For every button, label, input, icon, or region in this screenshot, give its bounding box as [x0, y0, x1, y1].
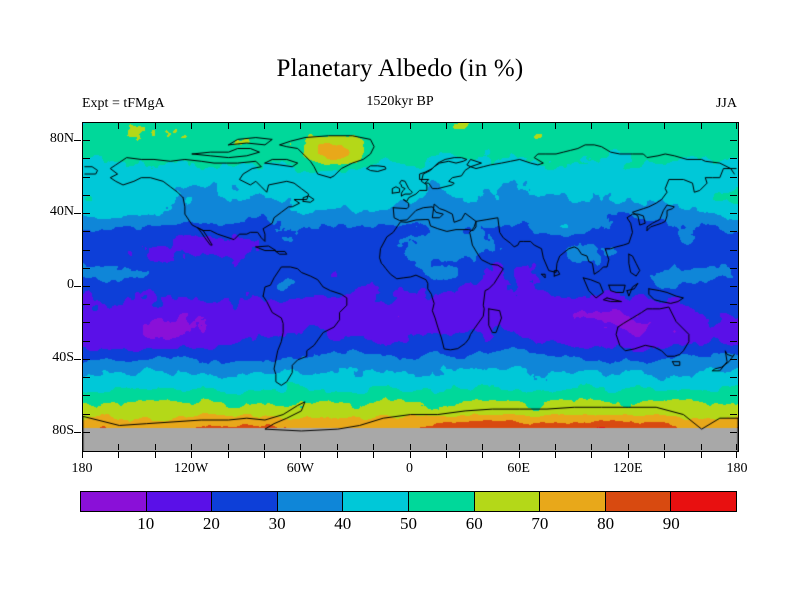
y-minor-tick: [83, 359, 90, 360]
x-minor-tick: [591, 444, 592, 450]
x-minor-tick: [519, 123, 520, 129]
x-outer-tick: [664, 452, 665, 458]
x-minor-tick: [228, 123, 229, 129]
x-minor-tick: [701, 444, 702, 450]
x-minor-tick: [519, 444, 520, 450]
colorbar: [80, 491, 737, 512]
y-minor-tick: [730, 341, 737, 342]
x-outer-tick: [701, 452, 702, 458]
x-minor-tick: [410, 444, 411, 450]
x-outer-tick: [373, 452, 374, 458]
y-minor-tick: [83, 377, 90, 378]
x-minor-tick: [664, 123, 665, 129]
x-minor-tick: [82, 123, 83, 129]
y-minor-tick: [83, 250, 90, 251]
x-outer-tick: [519, 452, 520, 458]
y-major-tick: [74, 286, 81, 287]
x-minor-tick: [264, 444, 265, 450]
y-minor-tick: [730, 177, 737, 178]
x-minor-tick: [482, 444, 483, 450]
colorbar-tick-label: 10: [116, 515, 176, 532]
x-minor-tick: [446, 123, 447, 129]
x-minor-tick: [555, 444, 556, 450]
x-outer-tick: [300, 452, 301, 458]
y-minor-tick: [83, 286, 90, 287]
y-minor-tick: [83, 158, 90, 159]
x-outer-tick: [410, 452, 411, 458]
colorbar-gradient: [80, 491, 737, 512]
x-outer-tick: [228, 452, 229, 458]
colorbar-tick-label: 70: [510, 515, 570, 532]
x-minor-tick: [191, 123, 192, 129]
x-outer-tick: [191, 452, 192, 458]
x-outer-tick: [482, 452, 483, 458]
y-major-tick: [74, 140, 81, 141]
colorbar-band: [671, 492, 736, 511]
x-minor-tick: [300, 123, 301, 129]
y-minor-tick: [730, 377, 737, 378]
y-minor-tick: [83, 213, 90, 214]
x-minor-tick: [664, 444, 665, 450]
x-minor-tick: [628, 123, 629, 129]
x-minor-tick: [337, 444, 338, 450]
y-major-tick: [74, 213, 81, 214]
x-minor-tick: [228, 444, 229, 450]
y-minor-tick: [83, 195, 90, 196]
x-minor-tick: [446, 444, 447, 450]
x-minor-tick: [373, 444, 374, 450]
y-minor-tick: [730, 140, 737, 141]
x-minor-tick: [701, 123, 702, 129]
y-minor-tick: [83, 395, 90, 396]
colorbar-labels: 102030405060708090: [0, 515, 800, 541]
x-minor-tick: [118, 123, 119, 129]
y-minor-tick: [730, 414, 737, 415]
x-outer-tick: [591, 452, 592, 458]
y-minor-tick: [730, 213, 737, 214]
x-minor-tick: [337, 123, 338, 129]
x-outer-tick: [446, 452, 447, 458]
x-outer-tick: [555, 452, 556, 458]
y-minor-tick: [83, 414, 90, 415]
y-minor-tick: [83, 177, 90, 178]
y-minor-tick: [730, 432, 737, 433]
y-minor-tick: [83, 432, 90, 433]
colorbar-tick-label: 20: [181, 515, 241, 532]
colorbar-band: [343, 492, 409, 511]
y-minor-tick: [730, 286, 737, 287]
x-outer-tick: [264, 452, 265, 458]
x-outer-tick: [155, 452, 156, 458]
y-minor-tick: [83, 231, 90, 232]
y-minor-tick: [730, 268, 737, 269]
y-minor-tick: [730, 304, 737, 305]
x-minor-tick: [555, 123, 556, 129]
x-minor-tick: [118, 444, 119, 450]
y-minor-tick: [730, 231, 737, 232]
y-minor-tick: [730, 195, 737, 196]
y-minor-tick: [730, 359, 737, 360]
colorbar-band: [540, 492, 606, 511]
y-minor-tick: [83, 268, 90, 269]
x-minor-tick: [155, 444, 156, 450]
x-outer-tick: [82, 452, 83, 458]
x-outer-tick: [628, 452, 629, 458]
y-minor-tick: [730, 158, 737, 159]
colorbar-band: [147, 492, 213, 511]
x-outer-tick: [337, 452, 338, 458]
y-minor-tick: [730, 250, 737, 251]
x-minor-tick: [264, 123, 265, 129]
y-minor-tick: [83, 322, 90, 323]
x-minor-tick: [482, 123, 483, 129]
y-minor-tick: [83, 140, 90, 141]
colorbar-tick-label: 50: [379, 515, 439, 532]
albedo-map-figure: Planetary Albedo (in %) 1520kyr BP Expt …: [0, 0, 800, 600]
colorbar-band: [409, 492, 475, 511]
y-major-tick: [74, 432, 81, 433]
y-minor-tick: [83, 304, 90, 305]
colorbar-band: [81, 492, 147, 511]
x-minor-tick: [82, 444, 83, 450]
y-minor-tick: [730, 395, 737, 396]
colorbar-tick-label: 90: [641, 515, 701, 532]
x-minor-tick: [591, 123, 592, 129]
x-minor-tick: [300, 444, 301, 450]
x-minor-tick: [410, 123, 411, 129]
x-minor-tick: [155, 123, 156, 129]
y-major-tick: [74, 359, 81, 360]
x-minor-tick: [736, 444, 737, 450]
x-outer-tick: [736, 452, 737, 458]
x-outer-tick: [118, 452, 119, 458]
colorbar-band: [606, 492, 672, 511]
colorbar-tick-label: 60: [444, 515, 504, 532]
colorbar-tick-label: 40: [313, 515, 373, 532]
colorbar-band: [278, 492, 344, 511]
y-minor-tick: [730, 322, 737, 323]
colorbar-tick-label: 30: [247, 515, 307, 532]
x-minor-tick: [191, 444, 192, 450]
x-minor-tick: [736, 123, 737, 129]
colorbar-tick-label: 80: [576, 515, 636, 532]
x-minor-tick: [373, 123, 374, 129]
colorbar-band: [212, 492, 278, 511]
x-minor-tick: [628, 444, 629, 450]
y-minor-tick: [83, 341, 90, 342]
colorbar-band: [475, 492, 541, 511]
